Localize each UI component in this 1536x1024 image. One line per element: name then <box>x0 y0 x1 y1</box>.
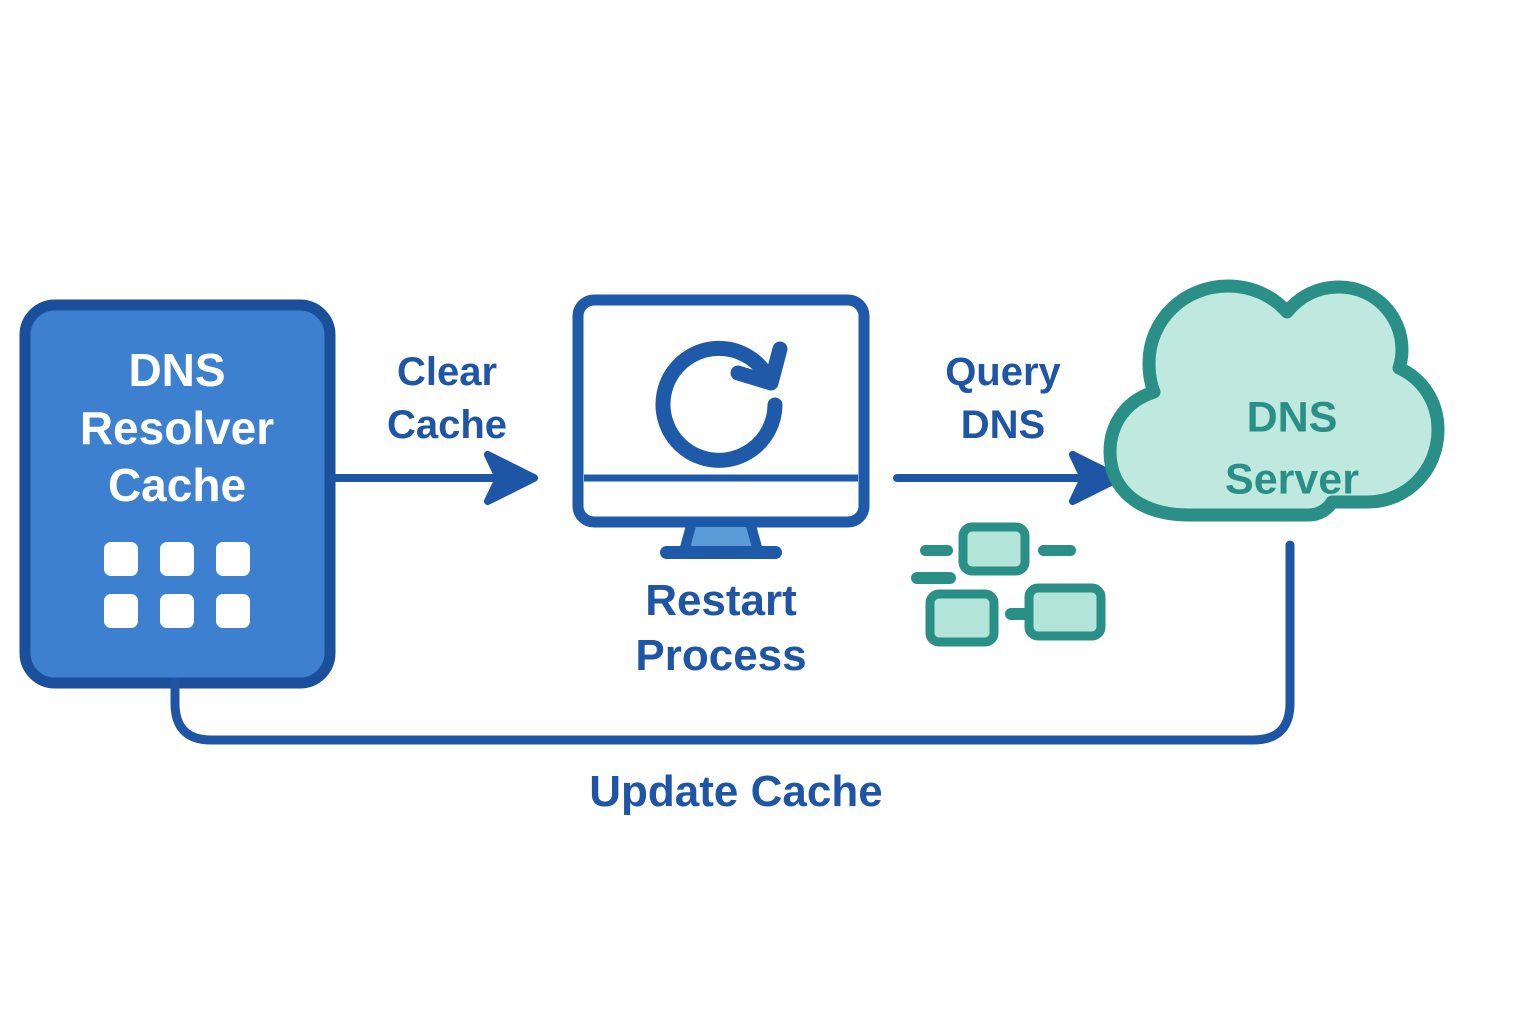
dns-resolver-cache-label-line2: Resolver <box>80 402 274 454</box>
network-node-bottom-right <box>1029 588 1101 636</box>
network-node-bottom-left <box>930 594 994 642</box>
network-link-left-lower <box>911 572 956 584</box>
clear-cache-label-line1: Clear <box>397 350 497 394</box>
network-topology-icon <box>911 527 1101 642</box>
update-cache-label: Update Cache <box>589 767 882 816</box>
node-restart-process[interactable]: Restart Process <box>578 300 864 680</box>
cache-cell-2 <box>160 542 194 576</box>
clear-cache-label-line2: Cache <box>387 403 507 447</box>
cache-cell-1 <box>104 542 138 576</box>
dns-server-label-line2: Server <box>1225 455 1359 503</box>
edge-query-dns: Query DNS <box>897 350 1110 478</box>
diagram-canvas: DNS Resolver Cache Clear Cache <box>0 0 1536 1024</box>
network-link-left-upper <box>920 545 953 556</box>
network-link-right <box>1038 545 1076 556</box>
restart-process-caption-line1: Restart <box>645 576 797 625</box>
cache-cell-6 <box>216 594 250 628</box>
query-dns-label-line1: Query <box>945 350 1061 394</box>
dns-server-label-line1: DNS <box>1247 393 1338 441</box>
edge-clear-cache: Clear Cache <box>333 350 525 478</box>
node-dns-resolver-cache[interactable]: DNS Resolver Cache <box>25 305 330 683</box>
restart-process-caption-line2: Process <box>635 631 806 680</box>
dns-resolver-cache-label-line1: DNS <box>128 344 225 396</box>
dns-flow-diagram: DNS Resolver Cache Clear Cache <box>0 0 1536 1024</box>
node-dns-server[interactable]: DNS Server <box>1110 286 1438 515</box>
cache-cell-5 <box>160 594 194 628</box>
cache-cell-3 <box>216 542 250 576</box>
query-dns-label-line2: DNS <box>961 403 1045 447</box>
monitor-screen[interactable] <box>578 300 864 522</box>
cache-cell-4 <box>104 594 138 628</box>
monitor-stand-base <box>660 546 782 559</box>
network-node-top <box>963 527 1025 571</box>
dns-resolver-cache-label-line3: Cache <box>108 459 246 511</box>
